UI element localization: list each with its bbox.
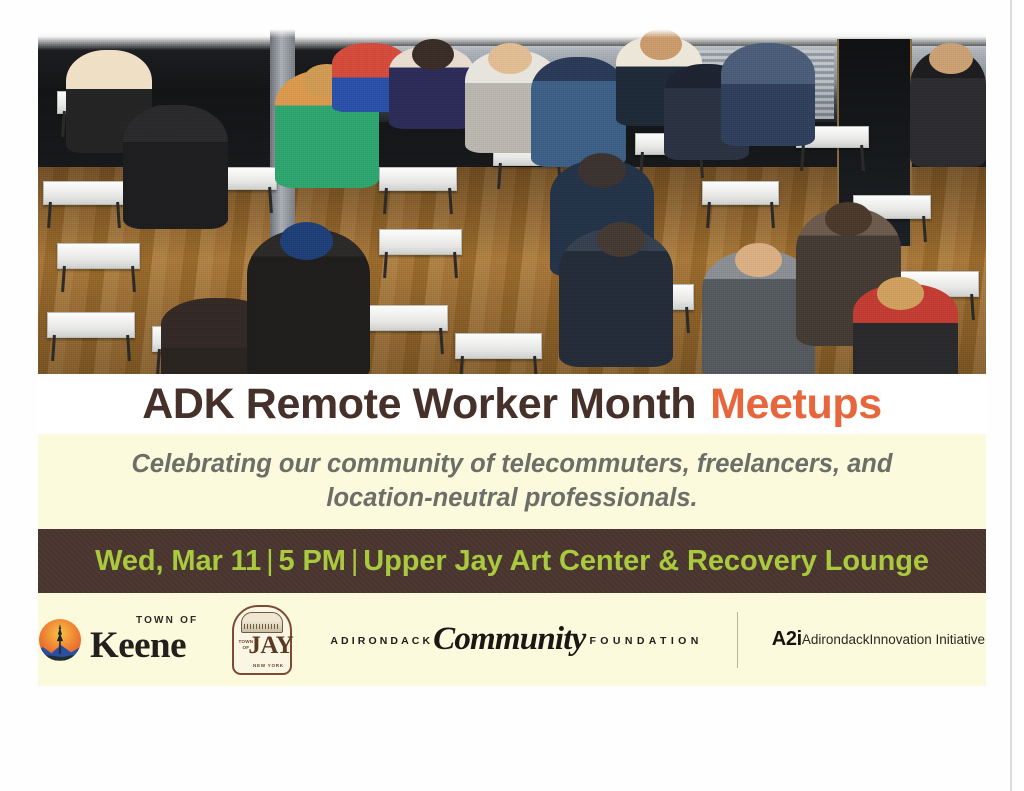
subtitle-line-2: location-neutral professionals. xyxy=(326,482,697,515)
person-head xyxy=(142,105,186,136)
jay-state: NEW YORK xyxy=(250,663,286,668)
keene-wordmark: TOWN OF Keene xyxy=(90,616,198,664)
chair xyxy=(702,181,780,205)
event-photo xyxy=(38,29,986,374)
mountain-sun-tree-icon xyxy=(39,619,81,661)
person xyxy=(531,57,626,167)
a2i-line-2: Innovation Initiative xyxy=(869,631,985,648)
acf-top-word: ADIRONDACK xyxy=(326,632,433,648)
subtitle-line-1: Celebrating our community of telecommute… xyxy=(132,448,893,481)
acf-top-text: ADIRONDACK xyxy=(330,635,433,647)
details-separator-2: | xyxy=(346,545,363,577)
covered-bridge-illustration xyxy=(241,612,283,633)
page-title: ADK Remote Worker MonthMeetups xyxy=(142,383,881,426)
a2i-line-1: Adirondack xyxy=(802,631,870,648)
event-time: 5 PM xyxy=(279,545,346,577)
chair xyxy=(47,312,134,338)
scanned-page-sheet: ADK Remote Worker MonthMeetups Celebrati… xyxy=(0,0,1012,791)
headline-main: ADK Remote Worker Month xyxy=(142,380,696,428)
headline-band: ADK Remote Worker MonthMeetups xyxy=(38,374,986,434)
person xyxy=(721,43,816,147)
subtitle-band: Celebrating our community of telecommute… xyxy=(38,434,986,529)
sponsor-logo-town-of-jay[interactable]: TOWN OF JAY NEW YORK xyxy=(232,605,292,675)
keene-eyebrow: TOWN OF xyxy=(136,616,198,626)
details-separator-1: | xyxy=(261,545,278,577)
person-head xyxy=(929,43,973,74)
sponsor-logo-adirondack-innovation-initiative[interactable]: A2i Adirondack Innovation Initiative xyxy=(772,627,985,653)
event-day: Wed, Mar 11 xyxy=(95,545,261,577)
a2i-wordmark: A2i xyxy=(772,627,802,653)
sponsor-logo-town-of-keene[interactable]: TOWN OF Keene xyxy=(39,616,198,664)
acf-bottom-word: FOUNDATION xyxy=(585,632,702,648)
keene-name: Keene xyxy=(90,627,198,664)
chair xyxy=(43,181,126,205)
chair xyxy=(379,167,457,191)
acf-bottom-text: FOUNDATION xyxy=(589,635,702,647)
sponsor-logo-band: TOWN OF Keene TOWN OF JAY NEW YORK ADIRO… xyxy=(38,593,986,686)
person-hat xyxy=(280,222,333,260)
person-head xyxy=(640,29,682,60)
chair xyxy=(455,333,542,359)
jay-name: JAY xyxy=(248,633,287,658)
event-details-bar: Wed, Mar 11|5 PM|Upper Jay Art Center & … xyxy=(38,529,986,593)
chair xyxy=(57,243,140,269)
event-flyer: ADK Remote Worker MonthMeetups Celebrati… xyxy=(38,29,986,686)
person-head xyxy=(597,222,644,257)
person-head xyxy=(488,43,532,74)
event-details-text: Wed, Mar 11|5 PM|Upper Jay Art Center & … xyxy=(95,545,929,578)
covered-bridge-badge-icon: TOWN OF JAY NEW YORK xyxy=(232,605,292,675)
logo-divider xyxy=(737,612,738,668)
chair xyxy=(360,305,447,331)
person-head xyxy=(825,202,872,237)
acf-script-word: Community xyxy=(433,623,585,656)
event-venue: Upper Jay Art Center & Recovery Lounge xyxy=(363,545,929,577)
sponsor-logo-adirondack-community-foundation[interactable]: ADIRONDACK Community FOUNDATION xyxy=(326,626,702,654)
page-edge-line xyxy=(1010,0,1012,791)
headline-accent: Meetups xyxy=(710,380,882,428)
person-head xyxy=(578,153,625,188)
chair xyxy=(379,229,462,255)
photo-scene xyxy=(38,29,986,374)
